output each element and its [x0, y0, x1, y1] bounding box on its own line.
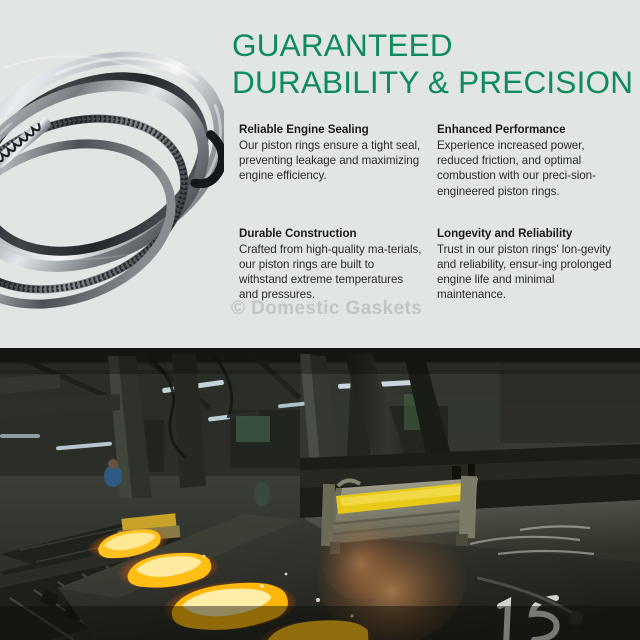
feature-grid: Reliable Engine Sealing Our piston rings… [239, 122, 625, 303]
feature-reliable-engine-sealing: Reliable Engine Sealing Our piston rings… [239, 122, 437, 199]
feature-enhanced-performance: Enhanced Performance Experience increase… [437, 122, 625, 199]
piston-rings-product-image [0, 8, 224, 328]
feature-title: Durable Construction [239, 226, 423, 241]
feature-title: Enhanced Performance [437, 122, 625, 137]
forging-plant-illustration [0, 348, 640, 640]
feature-row-1: Reliable Engine Sealing Our piston rings… [239, 122, 625, 199]
feature-title: Longevity and Reliability [437, 226, 625, 241]
feature-longevity-and-reliability: Longevity and Reliability Trust in our p… [437, 226, 625, 303]
headline-line-1: GUARANTEED [232, 27, 632, 64]
feature-row-2: Durable Construction Crafted from high-q… [239, 226, 625, 303]
feature-body: Our piston rings ensure a tight seal, pr… [239, 138, 423, 184]
piston-rings-illustration [0, 8, 224, 328]
banner-headline: GUARANTEED DURABILITY & PRECISION [232, 27, 632, 101]
feature-body: Trust in our piston rings' lon-gevity an… [437, 242, 625, 303]
feature-body: Experience increased power, reduced fric… [437, 138, 625, 199]
factory-photo [0, 348, 640, 640]
headline-line-2: DURABILITY & PRECISION [232, 64, 632, 101]
product-banner: GUARANTEED DURABILITY & PRECISION Reliab… [0, 0, 640, 640]
feature-durable-construction: Durable Construction Crafted from high-q… [239, 226, 437, 303]
top-content-section: GUARANTEED DURABILITY & PRECISION Reliab… [0, 0, 640, 348]
feature-title: Reliable Engine Sealing [239, 122, 423, 137]
feature-body: Crafted from high-quality ma-terials, ou… [239, 242, 423, 303]
